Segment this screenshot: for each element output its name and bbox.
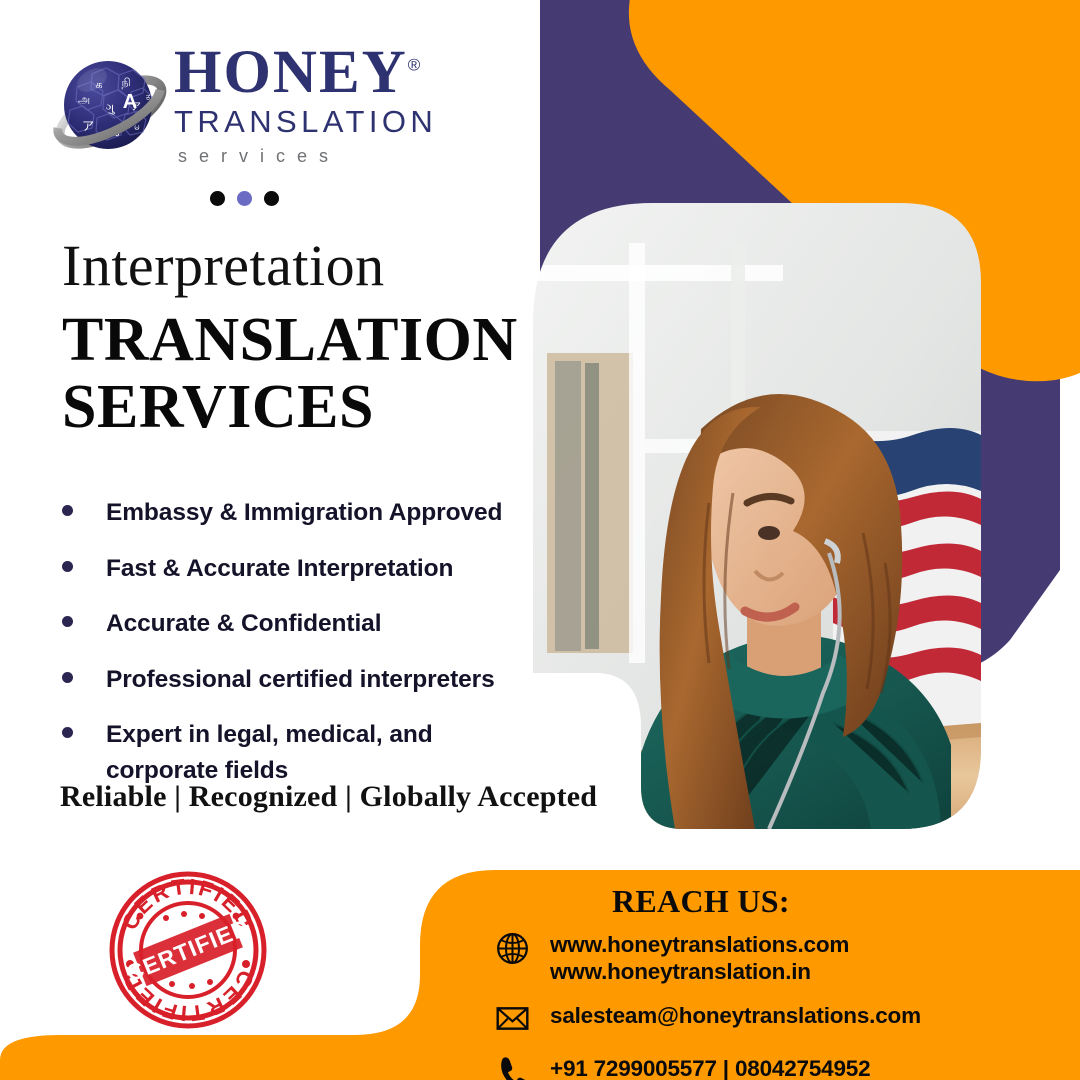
phone-text: +91 7299005577 | 08042754952 <box>550 1052 870 1080</box>
email-text: salesteam@honeytranslations.com <box>550 999 921 1029</box>
headline-line-1: TRANSLATION <box>62 307 518 374</box>
registered-trademark-icon: ® <box>408 56 421 75</box>
envelope-icon <box>492 999 532 1039</box>
bullet-icon <box>62 616 73 627</box>
bullet-icon <box>62 672 73 683</box>
website-text: www.honeytranslations.com www.honeytrans… <box>550 928 849 986</box>
dot-3-icon <box>264 191 279 206</box>
svg-text:A: A <box>123 91 137 113</box>
poster-canvas: க நி ಕ அ ગુ ア ア ణ မ A HONEY® TRANSLATION… <box>0 0 1080 1080</box>
website-1: www.honeytranslations.com <box>550 931 849 958</box>
hero-photo-image <box>533 203 981 829</box>
list-item: Accurate & Confidential <box>56 606 526 642</box>
brand-logo: க நி ಕ அ ગુ ア ア ణ မ A HONEY® TRANSLATION… <box>52 42 472 182</box>
list-item: Embassy & Immigration Approved <box>56 495 526 531</box>
feature-text: Accurate & Confidential <box>106 606 381 642</box>
contact-row-email[interactable]: salesteam@honeytranslations.com <box>492 999 1052 1039</box>
certified-stamp-icon: CERTIFIED CERTIFIED CERTIFIED <box>106 868 270 1032</box>
reach-us-heading: REACH US: <box>612 883 790 920</box>
logo-primary-name: HONEY® <box>174 42 474 103</box>
feature-text: Embassy & Immigration Approved <box>106 495 502 531</box>
svg-text:நி: நி <box>121 77 130 89</box>
list-item: Professional certified interpreters <box>56 662 526 698</box>
feature-text: Professional certified interpreters <box>106 662 495 698</box>
headline-main: TRANSLATION SERVICES <box>62 307 518 441</box>
list-item: Expert in legal, medical, and corporate … <box>56 717 526 788</box>
globe-languages-icon: க நி ಕ அ ગુ ア ア ణ မ A <box>52 50 170 168</box>
dot-2-icon <box>237 191 252 206</box>
bullet-icon <box>62 727 73 738</box>
decorative-dots <box>210 191 279 206</box>
contact-row-website[interactable]: www.honeytranslations.com www.honeytrans… <box>492 928 1052 986</box>
contact-details: www.honeytranslations.com www.honeytrans… <box>492 928 1052 1080</box>
feature-list: Embassy & Immigration Approved Fast & Ac… <box>56 495 526 808</box>
globe-icon <box>492 928 532 968</box>
tagline-text: Reliable | Recognized | Globally Accepte… <box>60 780 597 814</box>
dot-1-icon <box>210 191 225 206</box>
hero-photo <box>533 203 981 829</box>
feature-text: Fast & Accurate Interpretation <box>106 551 453 587</box>
svg-text:ア: ア <box>82 119 94 133</box>
headline-line-2: SERVICES <box>62 374 518 441</box>
logo-tertiary-name: services <box>178 146 474 167</box>
svg-text:ગુ: ગુ <box>106 101 115 115</box>
logo-wordmark: HONEY® TRANSLATION services <box>174 42 474 167</box>
bullet-icon <box>62 505 73 516</box>
list-item: Fast & Accurate Interpretation <box>56 551 526 587</box>
contact-row-phone[interactable]: +91 7299005577 | 08042754952 <box>492 1052 1052 1080</box>
phone-icon <box>492 1052 532 1080</box>
website-2: www.honeytranslation.in <box>550 958 849 985</box>
logo-name-text: HONEY <box>174 39 408 106</box>
headline-script: Interpretation <box>62 237 385 295</box>
bullet-icon <box>62 561 73 572</box>
logo-secondary-name: TRANSLATION <box>174 103 474 142</box>
svg-text:அ: அ <box>78 94 90 106</box>
feature-text: Expert in legal, medical, and corporate … <box>106 717 526 788</box>
